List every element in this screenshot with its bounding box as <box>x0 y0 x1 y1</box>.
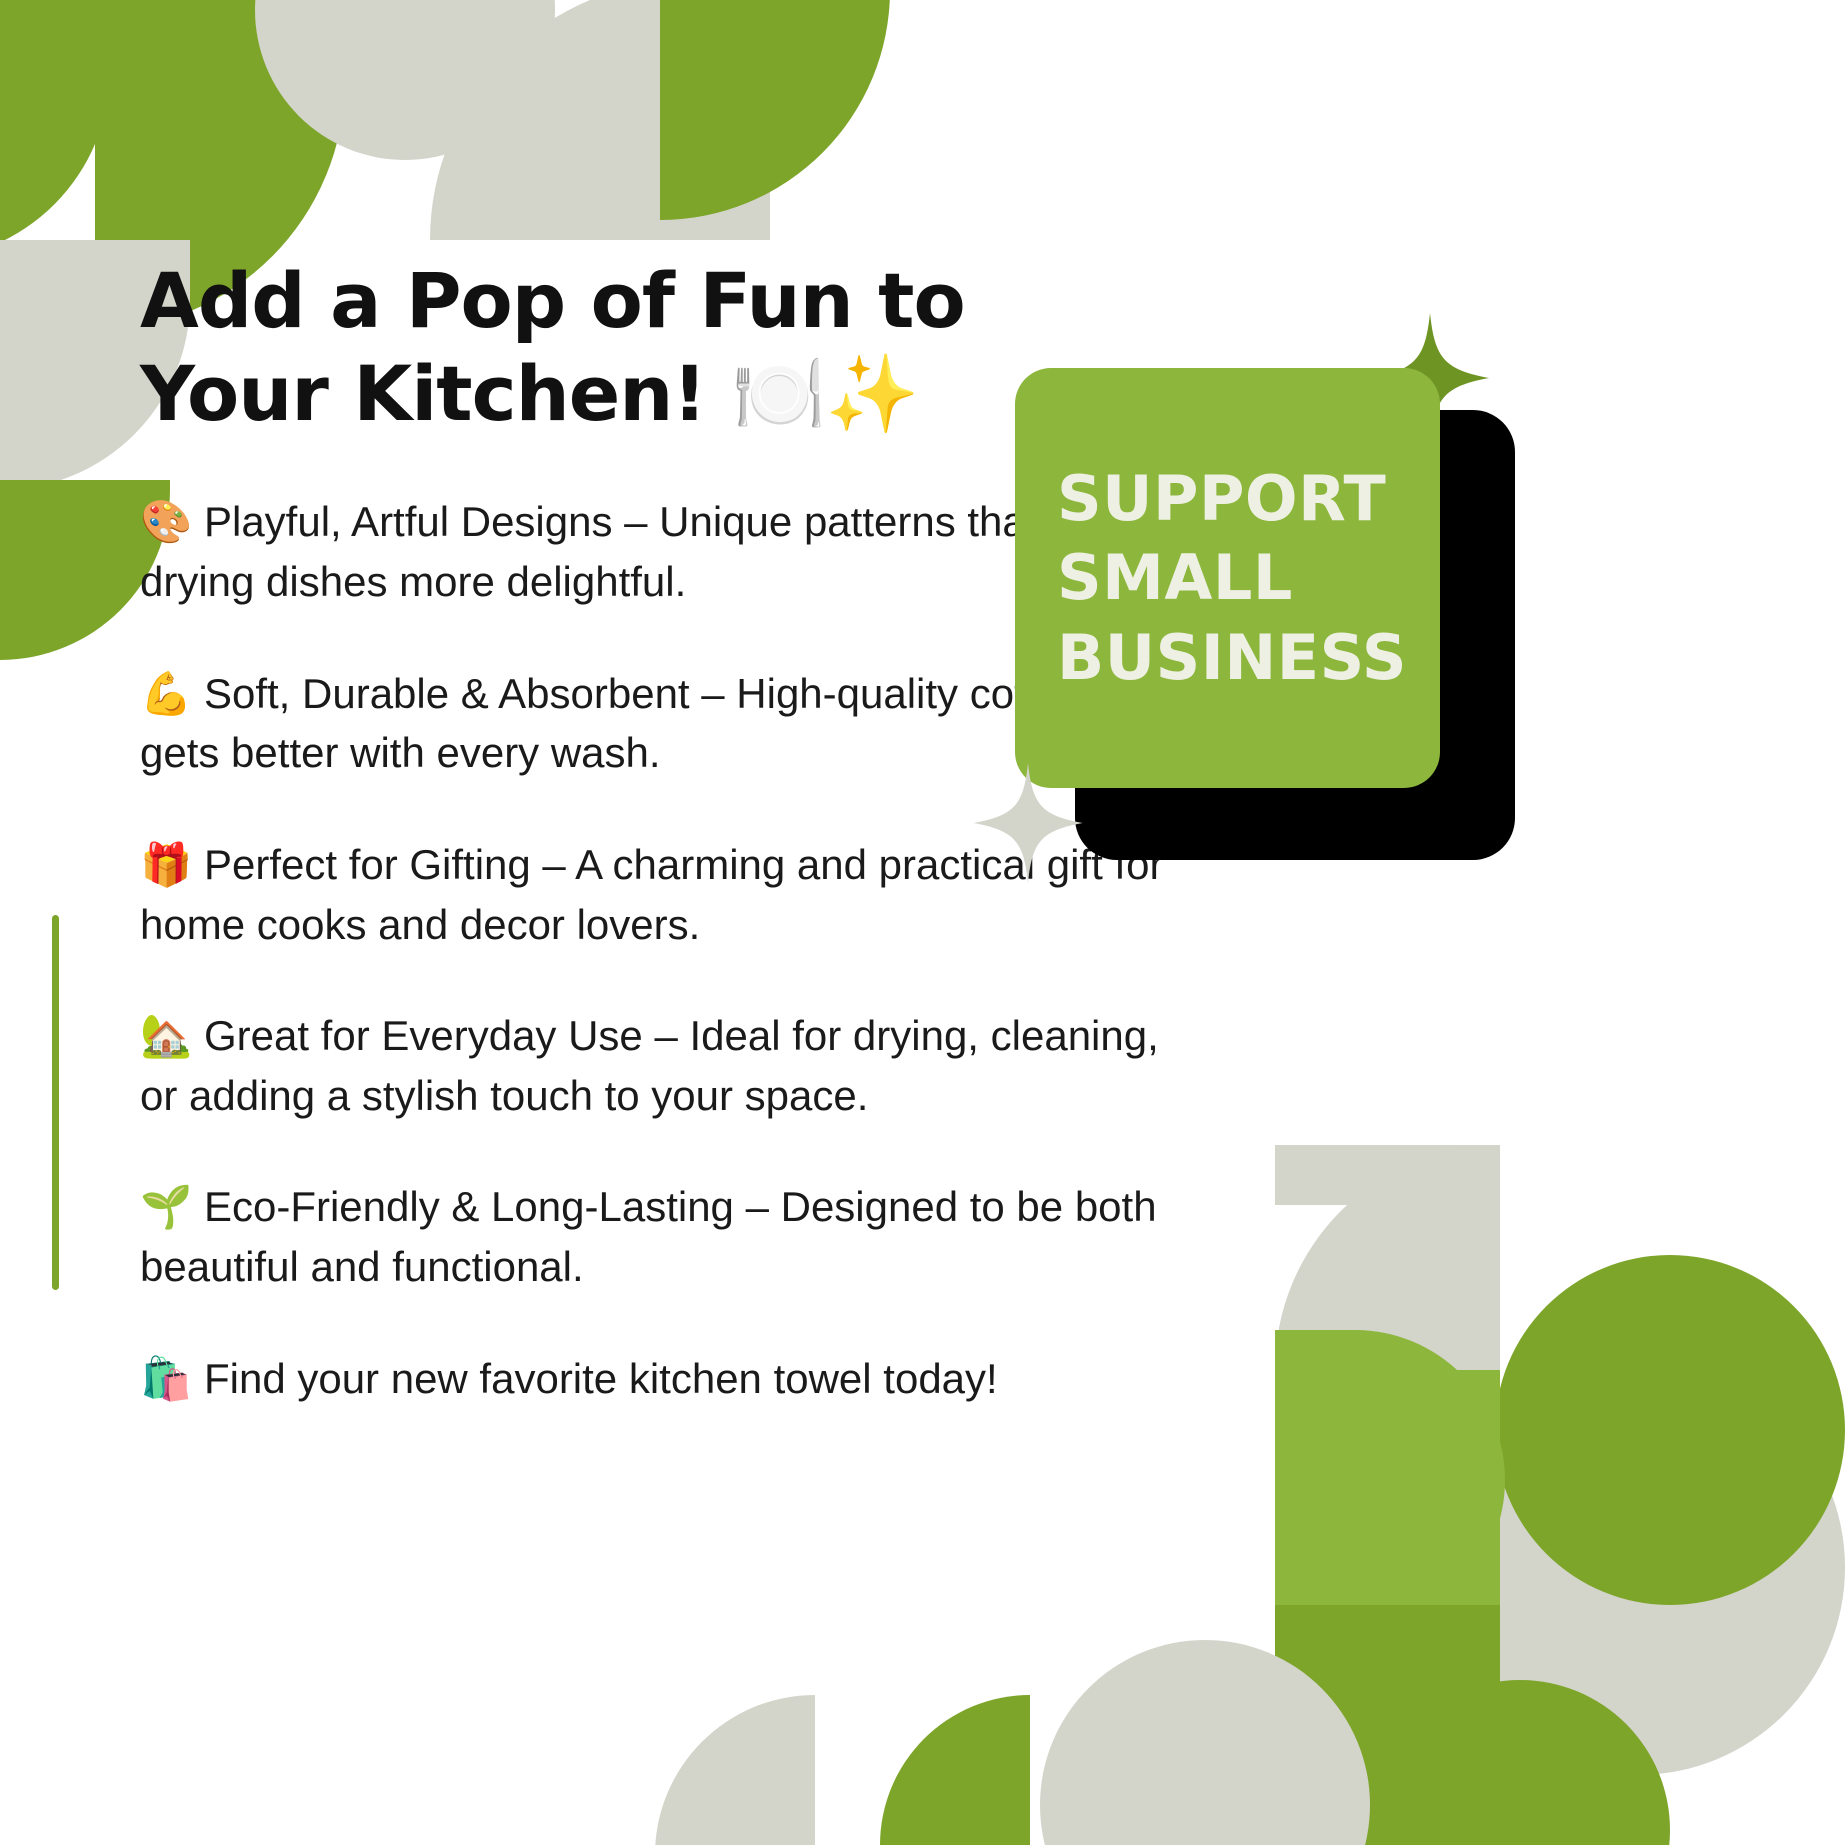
list-item-text: Playful, Artful Designs – Unique pattern… <box>140 498 1152 605</box>
list-item-text: Soft, Durable & Absorbent – High-quality… <box>140 670 1166 777</box>
deco-grey-circle-bottomright <box>1430 1360 1845 1775</box>
deco-green-halfcircle-bottomright <box>1275 1330 1505 1630</box>
deco-grey-block-bottomright <box>1275 1145 1500 1205</box>
list-item-text: Great for Everyday Use – Ideal for dryin… <box>140 1012 1159 1119</box>
list-item: 🛍️ Find your new favorite kitchen towel … <box>140 1349 1175 1409</box>
deco-green-circle-bottom <box>1370 1680 1670 1845</box>
deco-grey-quarter-top <box>430 0 770 240</box>
badge-line-2: SMALL <box>1057 538 1398 617</box>
seedling-emoji-icon: 🌱 <box>140 1182 192 1231</box>
poster-canvas: Add a Pop of Fun to Your Kitchen! 🍽️✨ 🎨 … <box>0 0 1845 1845</box>
support-small-business-badge: SUPPORT SMALL BUSINESS <box>1015 368 1515 868</box>
list-item-text: Eco-Friendly & Long-Lasting – Designed t… <box>140 1183 1157 1290</box>
deco-green-rect-bottomright <box>1275 1370 1500 1605</box>
wrapped-gift-emoji-icon: 🎁 <box>140 840 192 889</box>
artist-palette-emoji-icon: 🎨 <box>140 497 192 546</box>
deco-green-quarter-top <box>660 0 890 220</box>
deco-grey-quarter-bottomright <box>1275 1145 1500 1370</box>
sparkle-icon <box>973 763 1083 883</box>
deco-green-quarter-bottomleft <box>880 1695 1030 1845</box>
badge-line-3: BUSINESS <box>1057 618 1398 697</box>
deco-green-circle-bottomright <box>1495 1255 1845 1605</box>
deco-grey-circle-top <box>255 0 555 160</box>
deco-grey-quarter-bottomleft <box>655 1695 815 1845</box>
list-item-text: Find your new favorite kitchen towel tod… <box>204 1355 998 1402</box>
shopping-bags-emoji-icon: 🛍️ <box>140 1354 192 1403</box>
badge-line-1: SUPPORT <box>1057 459 1398 538</box>
deco-grey-circle-bottom <box>1040 1640 1370 1845</box>
list-item: 🏡 Great for Everyday Use – Ideal for dry… <box>140 1006 1175 1125</box>
house-with-garden-emoji-icon: 🏡 <box>140 1011 192 1060</box>
deco-green-wedge-topleft <box>0 0 110 260</box>
deco-darkgreen-rect-bottomright <box>1275 1605 1500 1845</box>
badge-panel: SUPPORT SMALL BUSINESS <box>1015 368 1440 788</box>
flexed-biceps-emoji-icon: 💪 <box>140 669 192 718</box>
list-item: 🌱 Eco-Friendly & Long-Lasting – Designed… <box>140 1177 1175 1296</box>
vertical-accent-rule <box>52 915 59 1290</box>
